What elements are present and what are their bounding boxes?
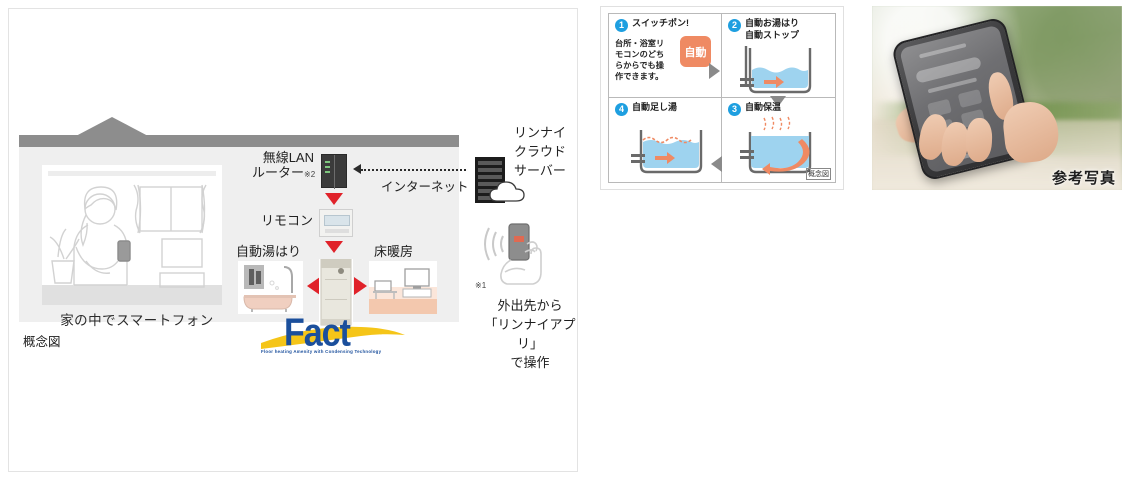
arrow-remote-to-unit-icon — [325, 241, 343, 253]
caption-reference-photo: 参考写真 — [1052, 167, 1116, 188]
bath-thumbnail-art — [238, 261, 303, 314]
screenshot-root: 家の中でスマートフォン 無線LAN ルーター※2 インターネット — [0, 0, 1129, 483]
house-roof — [19, 117, 459, 149]
step-cell-2: 2 自動お湯はり 自動ストップ — [722, 14, 835, 98]
step-number-4: 4 — [615, 103, 628, 116]
tub-refill-icon — [629, 124, 715, 176]
remote-controller-icon — [319, 209, 353, 237]
outdoor-smartphone-illustration — [475, 214, 555, 294]
cloud-icon — [489, 181, 529, 203]
reference-photo-panel: 参考写真 — [872, 6, 1122, 190]
bath-thumbnail — [238, 261, 303, 314]
step-title-2: 自動お湯はり 自動ストップ — [745, 18, 799, 41]
label-auto-bath-filling: 自動湯はり — [236, 245, 301, 260]
caption-steps-gainenzu: 概念図 — [806, 168, 831, 180]
label-router-note: ※2 — [304, 170, 315, 179]
step-cell-3: 3 自動保温 概念図 — [722, 98, 835, 182]
fact-logo: Fact Floor heating Amenity with Condensi… — [259, 309, 407, 357]
label-remote-controller: リモコン — [261, 214, 313, 229]
arrow-router-to-remote-icon — [325, 193, 343, 205]
step-title-1: スイッチポン! — [632, 18, 689, 30]
label-outdoor-note: ※1 — [475, 281, 486, 290]
fact-logo-tagline: Floor heating Amenity with Condensing Te… — [261, 349, 381, 354]
floor-heating-thumbnail — [369, 261, 437, 314]
step-number-3: 3 — [728, 103, 741, 116]
step-title-3: 自動保温 — [745, 102, 781, 114]
caption-house-smartphone: 家の中でスマートフォン — [42, 309, 232, 329]
internet-dotted-link — [361, 169, 466, 171]
label-wireless-lan-router: 無線LAN ルーター※2 — [252, 151, 314, 181]
woman-with-smartphone-lineart — [42, 165, 222, 305]
floor-heating-art — [369, 261, 437, 314]
caption-conceptual-diagram: 概念図 — [23, 331, 61, 350]
step-number-1: 1 — [615, 19, 628, 32]
internet-arrow-left-icon — [353, 164, 361, 174]
auto-mode-badge: 自動 — [680, 36, 711, 67]
step-number-2: 2 — [728, 19, 741, 32]
label-outdoor-app-caption: 外出先から 「リンナイアプリ」 で操作 — [475, 297, 585, 372]
auto-bath-steps-panel: 1 スイッチポン! 台所・浴室リ モコンのどち らからでも操 作できます。 自動… — [600, 6, 844, 190]
flow-arrow-step3-to-4-icon — [711, 156, 722, 172]
roof-peak — [74, 117, 150, 137]
label-rinnai-cloud-server: リンナイ クラウド サーバー — [514, 124, 566, 181]
steps-grid: 1 スイッチポン! 台所・浴室リ モコンのどち らからでも操 作できます。 自動… — [608, 13, 836, 183]
step-cell-4: 4 自動足し湯 — [609, 98, 722, 182]
main-concept-diagram-panel: 家の中でスマートフォン 無線LAN ルーター※2 インターネット — [8, 8, 578, 472]
step-title-4: 自動足し湯 — [632, 102, 677, 114]
arrow-unit-to-floorheat-icon — [354, 277, 367, 295]
label-internet: インターネット — [381, 180, 469, 194]
tub-filling-icon — [738, 44, 824, 94]
outdoor-phone-art — [475, 214, 555, 294]
living-room — [42, 165, 222, 305]
label-floor-heating: 床暖房 — [374, 245, 413, 260]
flow-arrow-step1-to-2-icon — [709, 63, 720, 79]
step-body-1: 台所・浴室リ モコンのどち らからでも操 作できます。 — [615, 38, 671, 82]
step-cell-1: 1 スイッチポン! 台所・浴室リ モコンのどち らからでも操 作できます。 自動 — [609, 14, 722, 98]
wifi-router-icon — [321, 154, 347, 188]
